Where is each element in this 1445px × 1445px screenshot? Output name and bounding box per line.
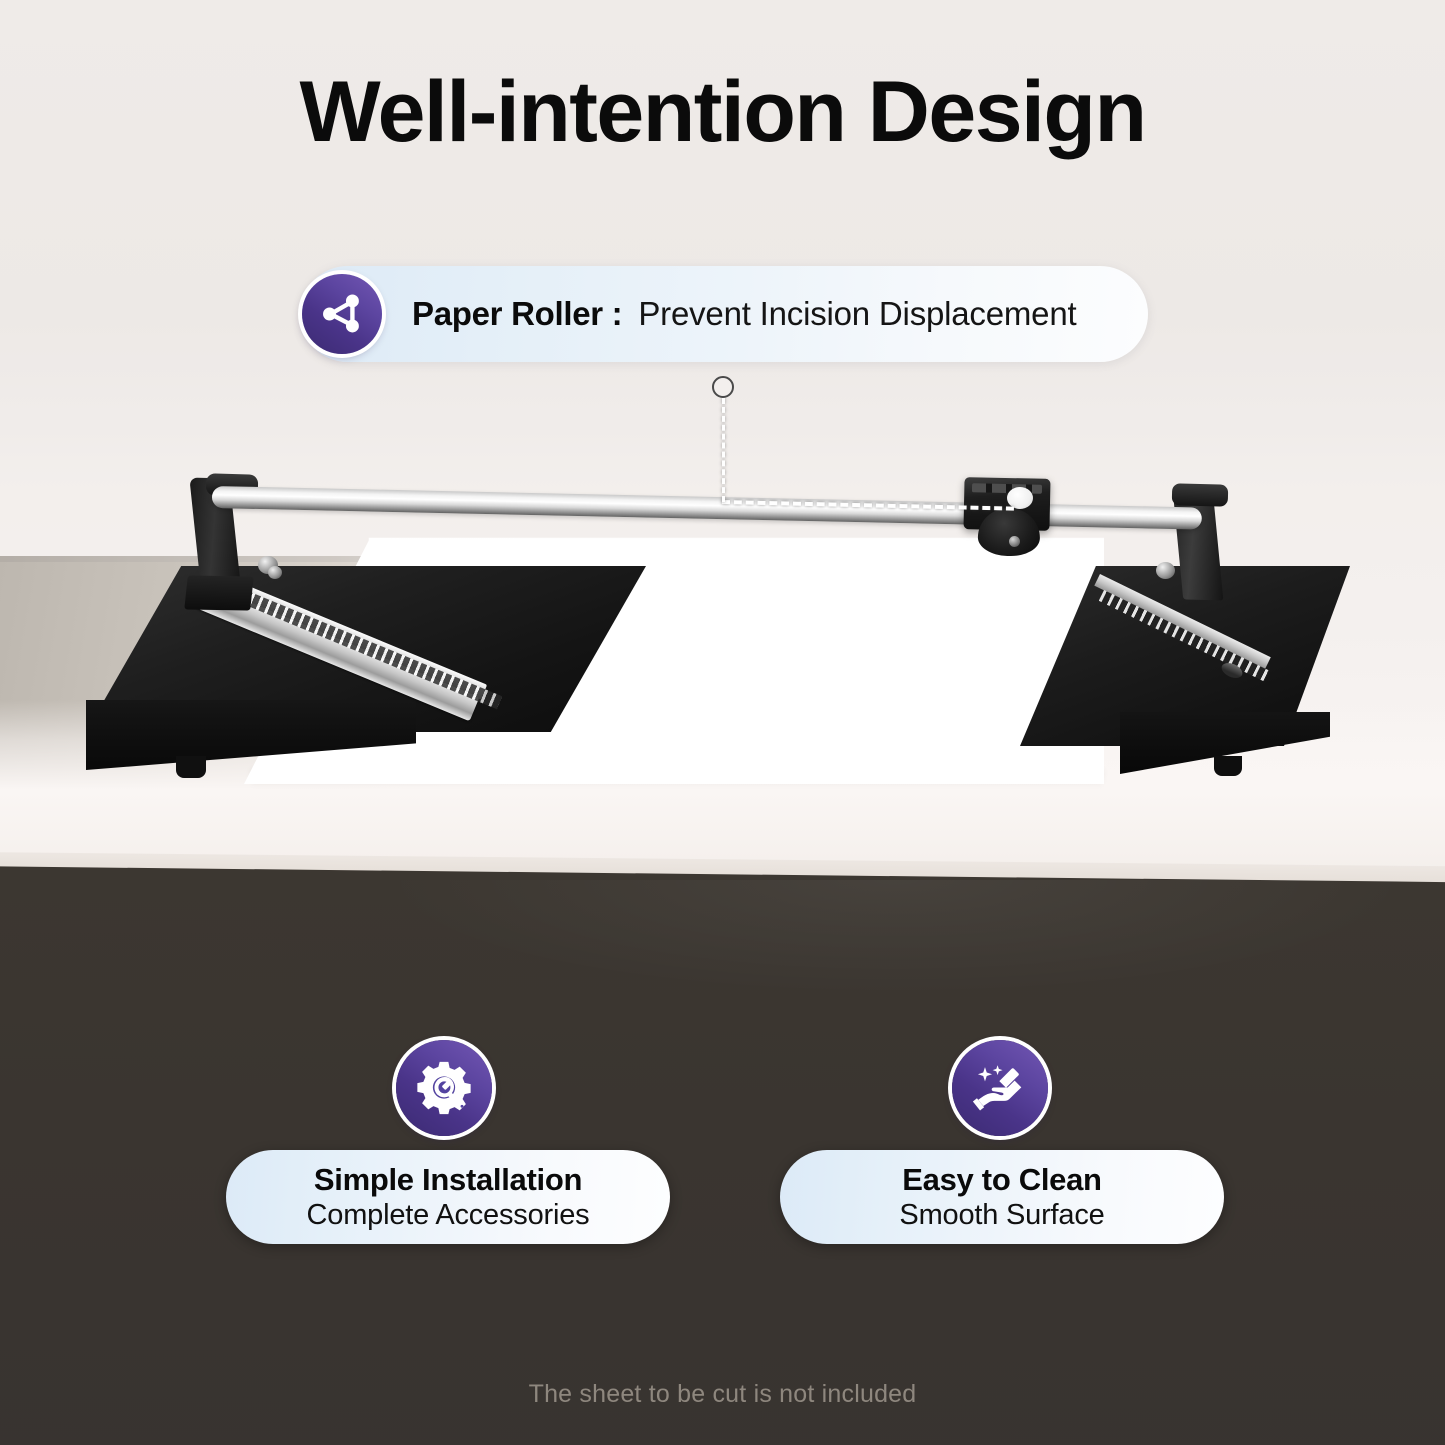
gear-wrench-icon (396, 1040, 492, 1136)
callout-dot-marker (712, 376, 734, 398)
clamp-knob-right (1156, 562, 1175, 579)
product-feature-page: Well-intention Design (0, 0, 1445, 1445)
dark-lower-panel (0, 866, 1445, 1445)
paper-roller-callout-text: Paper Roller : Prevent Incision Displace… (412, 266, 1076, 362)
base-left-foot (176, 756, 206, 778)
feature-subtitle: Smooth Surface (899, 1199, 1104, 1231)
feature-subtitle: Complete Accessories (307, 1199, 590, 1231)
arm-left-mount (184, 575, 253, 610)
feature-title: Easy to Clean (902, 1163, 1101, 1196)
feature-title: Simple Installation (314, 1163, 582, 1196)
aluminium-rail (212, 486, 1202, 530)
base-right-foot (1214, 756, 1242, 776)
cutter-screw (1009, 536, 1020, 547)
clamp-knob-left-secondary (268, 566, 282, 579)
callout-vertical-dashed-line (722, 398, 725, 502)
hand-sparkle-clean-icon (952, 1040, 1048, 1136)
paper-roller-value: Prevent Incision Displacement (638, 295, 1076, 333)
feature-badge-simple-installation[interactable]: Simple Installation Complete Accessories (226, 1150, 670, 1244)
paper-roller-label: Paper Roller : (412, 295, 622, 333)
share-nodes-icon (302, 274, 382, 354)
disclaimer-text: The sheet to be cut is not included (0, 1380, 1445, 1409)
paper-roller-callout-pill[interactable]: Paper Roller : Prevent Incision Displace… (300, 266, 1148, 362)
arm-right-cap (1172, 483, 1229, 506)
feature-badge-easy-to-clean[interactable]: Easy to Clean Smooth Surface (780, 1150, 1224, 1244)
